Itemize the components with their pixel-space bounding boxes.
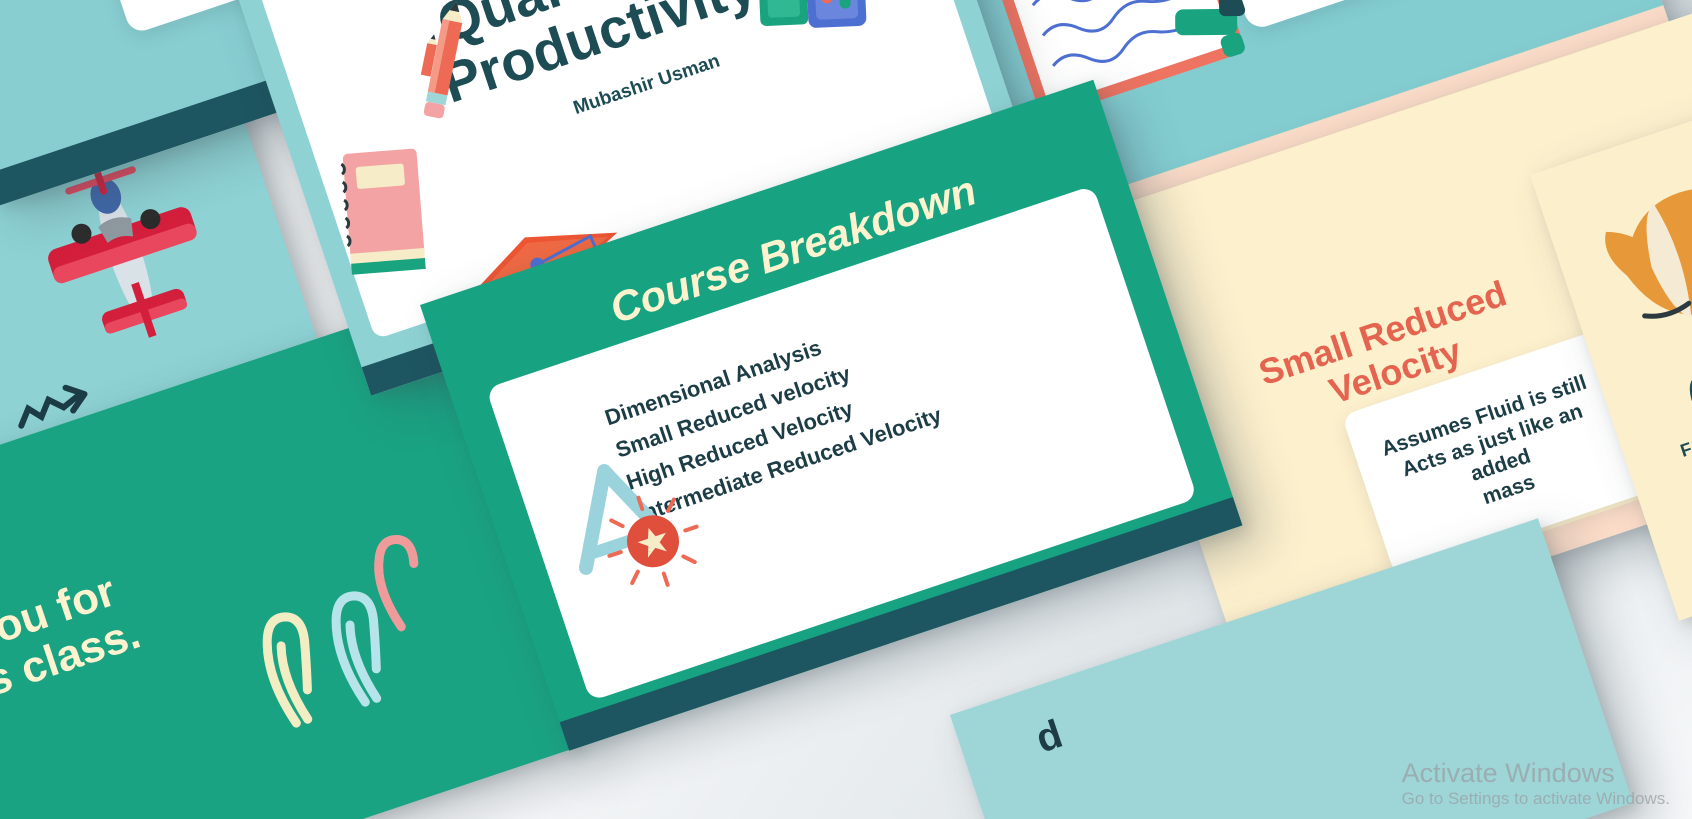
thank-you-text: you for s class.	[0, 481, 393, 704]
activate-windows-watermark: Activate Windows Go to Settings to activ…	[1402, 758, 1670, 809]
objectives-card: This Session's Objectives Fluid Solid In…	[1171, 0, 1611, 32]
watermark-title: Activate Windows	[1402, 758, 1670, 789]
watermark-subtitle: Go to Settings to activate Windows.	[1402, 789, 1670, 809]
bottom-fragment-text: d	[1031, 712, 1068, 762]
forces-caption: Forces o c	[1633, 403, 1692, 498]
slide-sorter-canvas: you for s class. Re bending m and thus c…	[0, 0, 1692, 819]
fish-icon	[1568, 134, 1692, 374]
